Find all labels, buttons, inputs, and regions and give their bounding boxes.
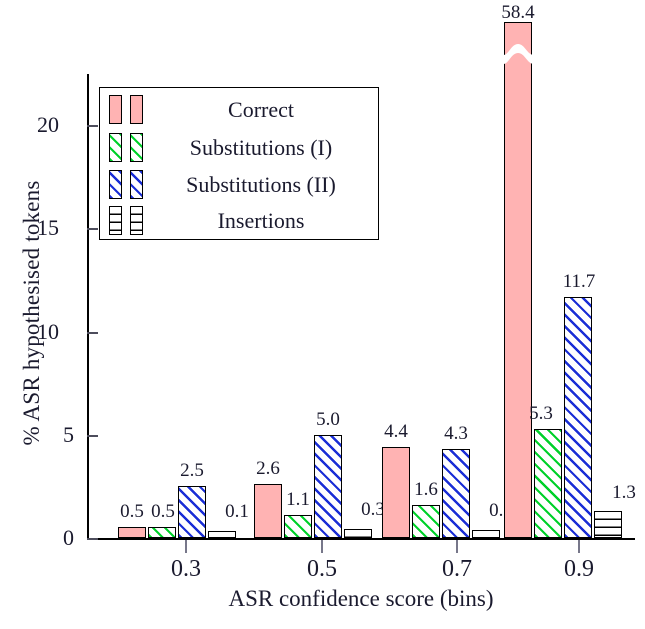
- x-tick-2: [456, 540, 458, 553]
- bar-insertions-2: [472, 530, 500, 538]
- legend-swatch-insertions-a: [109, 206, 122, 235]
- y-tick-label-10: 10: [15, 321, 59, 343]
- bar-insertions-0: [208, 531, 236, 538]
- bar-label-substitutions-ii-2: 4.3: [427, 424, 485, 443]
- y-tick-20: [87, 125, 98, 127]
- bar-insertions-1: [344, 529, 372, 538]
- bar-substitutions-ii-1: [314, 435, 342, 538]
- legend-label-correct: Correct: [147, 91, 375, 129]
- bar-substitutions-i-2: [412, 505, 440, 538]
- bar-substitutions-i-0: [148, 527, 176, 538]
- y-axis-line: [87, 74, 89, 540]
- bar-label-insertions-3: 1.3: [595, 483, 645, 502]
- bar-substitutions-ii-2: [442, 449, 470, 538]
- bar-substitutions-ii-0: [178, 486, 206, 538]
- y-tick-label-15: 15: [15, 217, 59, 239]
- bar-correct-0: [118, 527, 146, 538]
- legend-swatch-correct-b: [130, 95, 143, 124]
- x-tick-1: [321, 540, 323, 553]
- bar-insertions-3: [594, 511, 622, 538]
- legend-label-substitutions-ii: Substitutions (II): [147, 166, 375, 204]
- legend-entry-insertions: Insertions: [100, 202, 380, 240]
- bar-chart: % ASR hypothesised tokens ASR confidence…: [0, 0, 645, 629]
- legend-swatch-correct-a: [109, 95, 122, 124]
- legend-swatch-insertions-b: [130, 206, 143, 235]
- x-tick-label-0: 0.3: [146, 556, 226, 583]
- legend: Correct Substitutions (I) Substitutions …: [99, 87, 379, 240]
- bar-label-substitutions-ii-0: 2.5: [163, 461, 221, 480]
- legend-label-substitutions-i: Substitutions (I): [147, 129, 375, 167]
- x-axis-line: [87, 538, 635, 540]
- y-tick-10: [87, 332, 98, 334]
- legend-entry-substitutions-i: Substitutions (I): [100, 129, 380, 167]
- y-tick-15: [87, 228, 98, 230]
- bar-label-substitutions-ii-1: 5.0: [299, 410, 357, 429]
- y-tick-label-20: 20: [15, 114, 59, 136]
- y-tick-0: [87, 538, 98, 540]
- legend-entry-correct: Correct: [100, 91, 380, 129]
- bar-substitutions-i-3: [534, 429, 562, 538]
- bar-label-substitutions-ii-3: 11.7: [548, 272, 610, 291]
- bar-label-correct-1: 2.6: [239, 459, 297, 478]
- bar-substitutions-i-1: [284, 515, 312, 538]
- legend-swatch-substitutions-ii-b: [130, 170, 143, 199]
- bar-label-substitutions-i-3: 5.3: [512, 404, 570, 423]
- legend-label-insertions: Insertions: [147, 202, 375, 240]
- legend-swatch-substitutions-i-a: [109, 133, 122, 162]
- y-tick-label-0: 0: [30, 527, 74, 549]
- x-tick-3: [578, 540, 580, 553]
- x-tick-label-1: 0.5: [282, 556, 362, 583]
- legend-swatch-substitutions-i-b: [130, 133, 143, 162]
- y-tick-label-5: 5: [30, 424, 74, 446]
- bar-correct-3: [504, 22, 532, 538]
- bar-label-correct-3: 58.4: [489, 3, 547, 22]
- x-tick-0: [185, 540, 187, 553]
- legend-entry-substitutions-ii: Substitutions (II): [100, 166, 380, 204]
- x-tick-label-3: 0.9: [539, 556, 619, 583]
- y-axis-label: % ASR hypothesised tokens: [19, 83, 45, 543]
- x-axis-label: ASR confidence score (bins): [87, 586, 635, 612]
- bar-substitutions-ii-3: [564, 297, 592, 538]
- x-tick-label-2: 0.7: [417, 556, 497, 583]
- bar-label-correct-2: 4.4: [367, 422, 425, 441]
- y-tick-5: [87, 435, 98, 437]
- legend-swatch-substitutions-ii-a: [109, 170, 122, 199]
